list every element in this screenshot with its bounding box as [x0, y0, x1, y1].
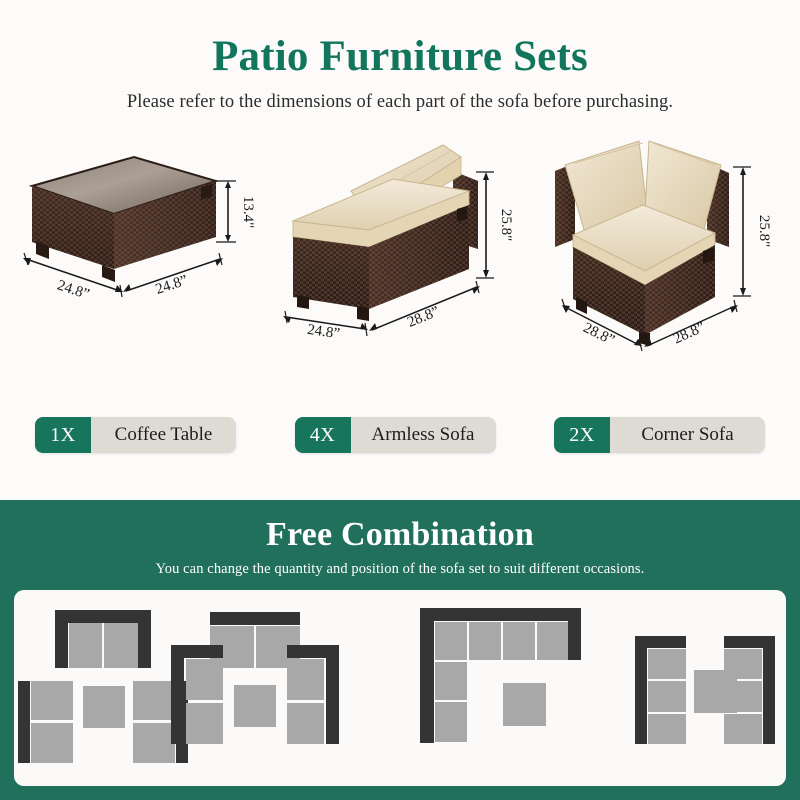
product-coffee-table: 13.4" 24.8” 24.8” [16, 129, 271, 379]
layout-facing-rows[interactable] [635, 636, 775, 744]
sofa-foot [297, 295, 309, 309]
product-label-row: 1X Coffee Table 4X Armless Sofa 2X Corne… [0, 417, 800, 453]
sofa-foot [357, 306, 369, 321]
combination-subtitle: You can change the quantity and position… [0, 561, 800, 578]
product-corner-sofa: 25.8" 28.8” 28.8” [529, 129, 784, 379]
armless-sofa-illustration: 25.8" 24.8” 28.8” [273, 129, 528, 379]
pill-quantity: 4X [295, 417, 351, 453]
product-pill-coffee-table[interactable]: 1X Coffee Table [35, 417, 236, 453]
layout-u-shape[interactable] [18, 610, 188, 763]
layout-diagrams [14, 590, 786, 786]
coffee-table-illustration: 13.4" 24.8” 24.8” [16, 129, 271, 379]
pill-quantity: 2X [554, 417, 610, 453]
dimension-width-label: 24.8” [306, 322, 341, 342]
product-pill-armless-sofa[interactable]: 4X Armless Sofa [295, 417, 496, 453]
page-subtitle: Please refer to the dimensions of each p… [0, 92, 800, 113]
page-title: Patio Furniture Sets [0, 34, 800, 79]
dimension-depth-label: 28.8” [671, 319, 708, 347]
dimension-height: 25.8" [733, 167, 772, 296]
product-pill-corner-sofa[interactable]: 2X Corner Sofa [554, 417, 765, 453]
header: Patio Furniture Sets Please refer to the… [0, 0, 800, 113]
layout-l-sectional[interactable] [420, 608, 581, 743]
combination-title: Free Combination [0, 500, 800, 554]
dimension-depth-label: 28.8” [405, 304, 442, 331]
dimension-height-label: 25.8" [756, 215, 772, 247]
dimension-depth-label: 24.8” [154, 273, 190, 298]
dimension-height: 25.8" [476, 172, 514, 278]
pill-label: Corner Sofa [610, 417, 765, 453]
pill-label: Armless Sofa [351, 417, 496, 453]
pill-label: Coffee Table [91, 417, 236, 453]
dimension-height-label: 25.8" [498, 209, 514, 241]
pill-quantity: 1X [35, 417, 91, 453]
free-combination-section: Free Combination You can change the quan… [0, 500, 800, 800]
product-armless-sofa: 25.8" 24.8” 28.8” [273, 129, 528, 379]
product-gallery: 13.4" 24.8” 24.8” [0, 129, 800, 379]
dimension-height-label: 13.4" [240, 196, 256, 228]
dimension-width-label: 24.8” [55, 278, 91, 303]
layout-open-u[interactable] [171, 612, 339, 744]
combination-panel [14, 590, 786, 786]
dimension-width: 24.8” [283, 311, 368, 342]
corner-sofa-illustration: 25.8" 28.8” 28.8” [529, 129, 784, 379]
dimension-height: 13.4" [216, 181, 256, 242]
